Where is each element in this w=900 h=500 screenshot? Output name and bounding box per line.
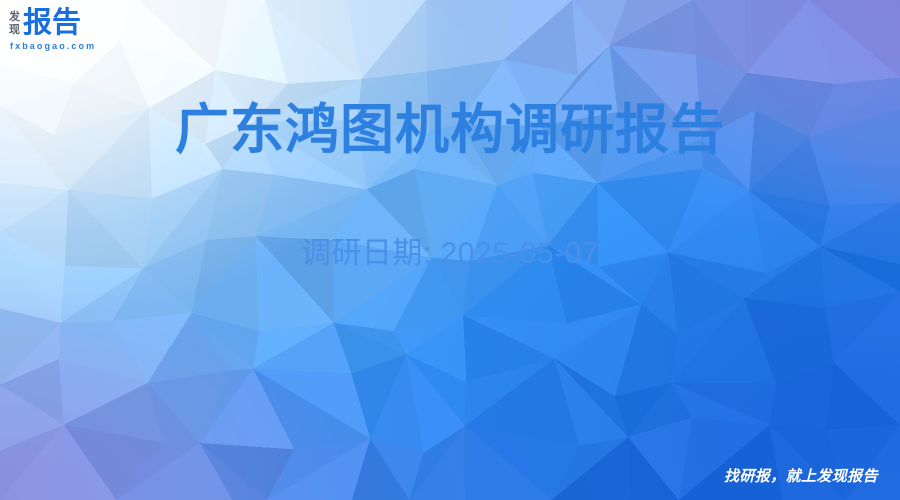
logo-mark-icon: 发 现 [9, 10, 20, 37]
brand-watermark: 找研报，就上发现报告 [724, 465, 878, 486]
logo-mark-bottom: 现 [9, 24, 20, 37]
logo-mark-top: 发 [9, 11, 20, 24]
logo-wordmark: 报告 [23, 8, 81, 39]
survey-date-subtitle: 调研日期: 2025-05-07 [0, 232, 900, 276]
report-cover: 发 现 报告 fxbaogao.com 广东鸿图机构调研报告 调研日期: 202… [0, 0, 900, 500]
page-title: 广东鸿图机构调研报告 [0, 92, 900, 168]
site-logo[interactable]: 发 现 报告 fxbaogao.com [9, 7, 169, 51]
logo-row: 发 现 报告 [9, 7, 169, 40]
logo-url: fxbaogao.com [10, 41, 169, 51]
